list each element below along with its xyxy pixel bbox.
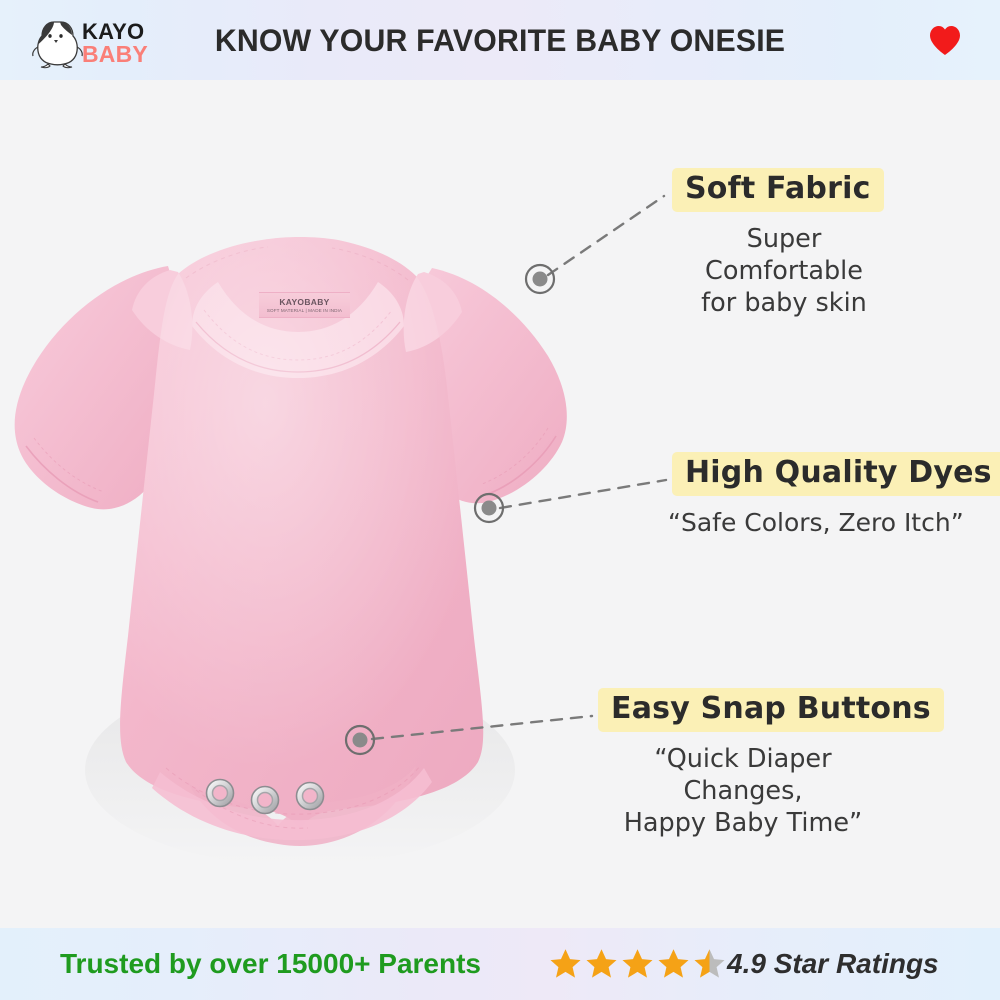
heart-icon — [928, 24, 962, 56]
footer-banner: Trusted by over 15000+ Parents — [0, 928, 1000, 1000]
marker-dot-soft-fabric — [522, 261, 558, 297]
callout-high-quality-dyes: High Quality Dyes “Safe Colors, Zero Itc… — [672, 452, 1000, 538]
rating-value-text: 4.9 Star Ratings — [727, 948, 939, 980]
callout-badge-high-quality-dyes: High Quality Dyes — [672, 452, 1000, 496]
snap-button — [207, 780, 234, 807]
star-icon-filled — [620, 947, 655, 981]
callout-desc-soft-fabric: Super Comfortable for baby skin — [668, 223, 900, 319]
callout-easy-snap-buttons: Easy Snap Buttons “Quick Diaper Changes,… — [598, 688, 944, 839]
neck-tag-brand: KAYOBABY — [279, 297, 329, 307]
trusted-parents-text: Trusted by over 15000+ Parents — [60, 948, 481, 980]
infographic-canvas: KAYOBABY SOFT MATERIAL | MADE IN INDIA S… — [0, 0, 1000, 1000]
star-icon-filled — [548, 947, 583, 981]
neck-tag-subtext: SOFT MATERIAL | MADE IN INDIA — [267, 308, 342, 313]
callout-desc-easy-snap-buttons: “Quick Diaper Changes, Happy Baby Time” — [592, 743, 894, 839]
callout-soft-fabric: Soft Fabric Super Comfortable for baby s… — [672, 168, 900, 319]
snap-button — [297, 783, 324, 810]
star-icon-filled — [656, 947, 691, 981]
page-title: KNOW YOUR FAVORITE BABY ONESIE — [20, 0, 980, 80]
star-icon-filled — [584, 947, 619, 981]
callout-desc-high-quality-dyes: “Safe Colors, Zero Itch” — [668, 507, 950, 539]
callout-badge-easy-snap-buttons: Easy Snap Buttons — [598, 688, 944, 732]
header-banner: KAYO BABY KNOW YOUR FAVORITE BABY ONESIE — [0, 0, 1000, 80]
callout-badge-soft-fabric: Soft Fabric — [672, 168, 884, 212]
star-icon-half — [692, 947, 727, 981]
neck-tag-label: KAYOBABY SOFT MATERIAL | MADE IN INDIA — [259, 292, 350, 318]
marker-dot-high-quality-dyes — [471, 490, 507, 526]
snap-button — [252, 787, 279, 814]
star-rating — [548, 947, 727, 981]
marker-dot-easy-snap-buttons — [342, 722, 378, 758]
